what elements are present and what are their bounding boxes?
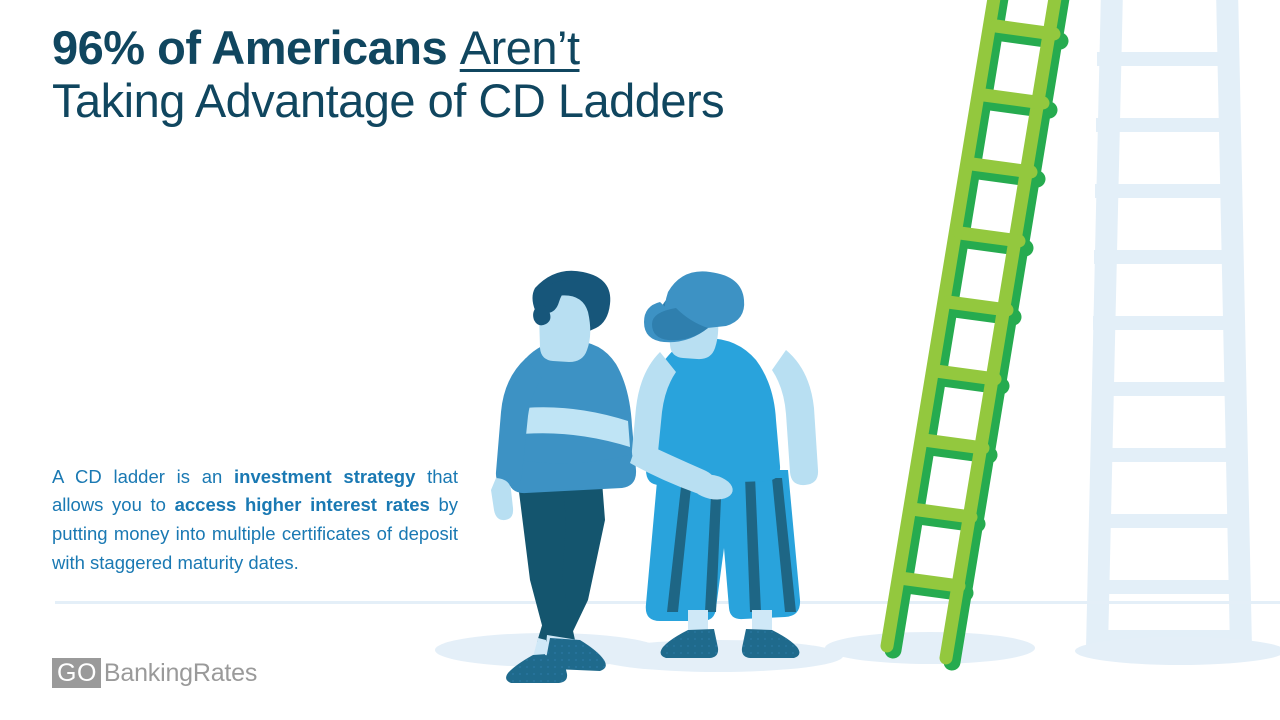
- body-paragraph: A CD ladder is an investment strategy th…: [52, 463, 458, 578]
- headline-stat: 96% of Americans: [52, 21, 460, 74]
- person-standing-woman: [630, 271, 818, 658]
- infographic-canvas: 96% of Americans Aren’t Taking Advantage…: [0, 0, 1280, 720]
- headline-emphasis: Aren’t: [460, 21, 580, 74]
- person-walking-man: [491, 271, 636, 683]
- gobankingrates-logo: GO BankingRates: [52, 658, 257, 688]
- headline-line-1: 96% of Americans Aren’t: [52, 24, 1032, 72]
- logo-wordmark: BankingRates: [104, 658, 257, 688]
- page-title: 96% of Americans Aren’t Taking Advantage…: [52, 24, 1032, 125]
- body-bold-2: access higher interest rates: [175, 494, 430, 515]
- body-bold-1: investment strategy: [234, 466, 415, 487]
- body-text-1: A CD ladder is an: [52, 466, 234, 487]
- background-ladder: [1075, 0, 1280, 665]
- logo-go-mark: GO: [52, 658, 101, 688]
- headline-line-2: Taking Advantage of CD Ladders: [52, 77, 1032, 125]
